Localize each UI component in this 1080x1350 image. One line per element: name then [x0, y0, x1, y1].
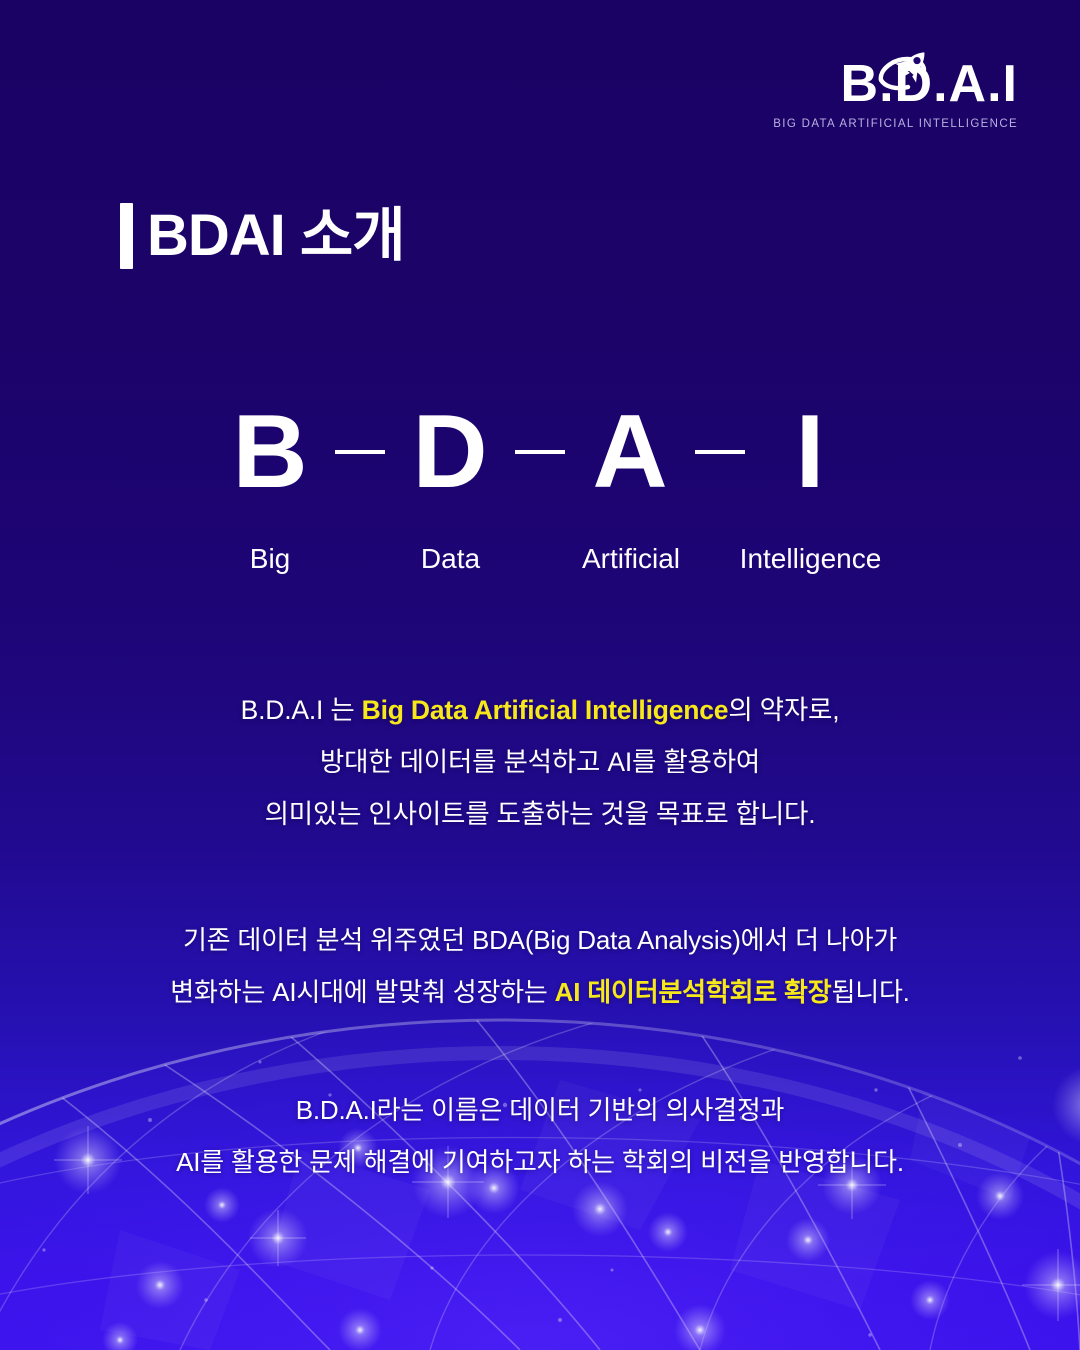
rocket-icon — [877, 46, 935, 94]
poster-canvas: B.D.A.I BIG DATA ARTIFICIAL INTELLIGENCE… — [0, 0, 1080, 1350]
description-paragraph-1: B.D.A.I 는 Big Data Artificial Intelligen… — [0, 684, 1080, 840]
acronym-label-data: Data — [360, 542, 541, 576]
description-paragraph-3: B.D.A.I라는 이름은 데이터 기반의 의사결정과 AI를 활용한 문제 해… — [0, 1084, 1080, 1188]
page-title: BDAI 소개 — [120, 203, 405, 269]
paragraph-1-line-1: B.D.A.I 는 Big Data Artificial Intelligen… — [0, 684, 1080, 736]
paragraph-1-line-3: 의미있는 인사이트를 도출하는 것을 목표로 합니다. — [0, 788, 1080, 840]
acronym-letter-d: D — [404, 400, 496, 504]
description-paragraph-2: 기존 데이터 분석 위주였던 BDA(Big Data Analysis)에서 … — [0, 914, 1080, 1018]
paragraph-1-line-2: 방대한 데이터를 분석하고 AI를 활용하여 — [0, 736, 1080, 788]
p2-line2-highlight: AI 데이터분석학회로 확장 — [555, 977, 832, 1007]
p1-line1-suffix: 의 약자로, — [728, 695, 839, 725]
acronym-separator-1 — [335, 450, 385, 454]
logo-wordmark: B.D.A.I — [773, 58, 1018, 110]
acronym-label-intelligence: Intelligence — [721, 542, 900, 576]
p2-line2-prefix: 변화하는 AI시대에 발맞춰 성장하는 — [170, 977, 554, 1007]
title-accent-bar — [120, 203, 133, 269]
paragraph-3-line-1: B.D.A.I라는 이름은 데이터 기반의 의사결정과 — [0, 1084, 1080, 1136]
p1-line1-highlight: Big Data Artificial Intelligence — [362, 695, 729, 725]
acronym-separator-3 — [695, 450, 745, 454]
acronym-separator-2 — [515, 450, 565, 454]
acronym-letter-b: B — [224, 400, 316, 504]
logo-tagline: BIG DATA ARTIFICIAL INTELLIGENCE — [773, 119, 1018, 131]
acronym-letter-a: A — [584, 400, 676, 504]
p1-line1-prefix: B.D.A.I 는 — [241, 695, 362, 725]
acronym-letter-i: I — [764, 400, 856, 504]
acronym-label-artificial: Artificial — [541, 542, 721, 576]
page-title-text: BDAI 소개 — [147, 207, 405, 265]
paragraph-3-line-2: AI를 활용한 문제 해결에 기여하고자 하는 학회의 비전을 반영합니다. — [0, 1136, 1080, 1188]
acronym-label-big: Big — [180, 542, 360, 576]
paragraph-2-line-2: 변화하는 AI시대에 발맞춰 성장하는 AI 데이터분석학회로 확장됩니다. — [0, 966, 1080, 1018]
acronym-label-row: Big Data Artificial Intelligence — [0, 542, 1080, 576]
p2-line2-suffix: 됩니다. — [832, 977, 910, 1007]
brand-logo: B.D.A.I BIG DATA ARTIFICIAL INTELLIGENCE — [773, 58, 1018, 131]
paragraph-2-line-1: 기존 데이터 분석 위주였던 BDA(Big Data Analysis)에서 … — [0, 914, 1080, 966]
acronym-row: B D A I — [0, 400, 1080, 504]
